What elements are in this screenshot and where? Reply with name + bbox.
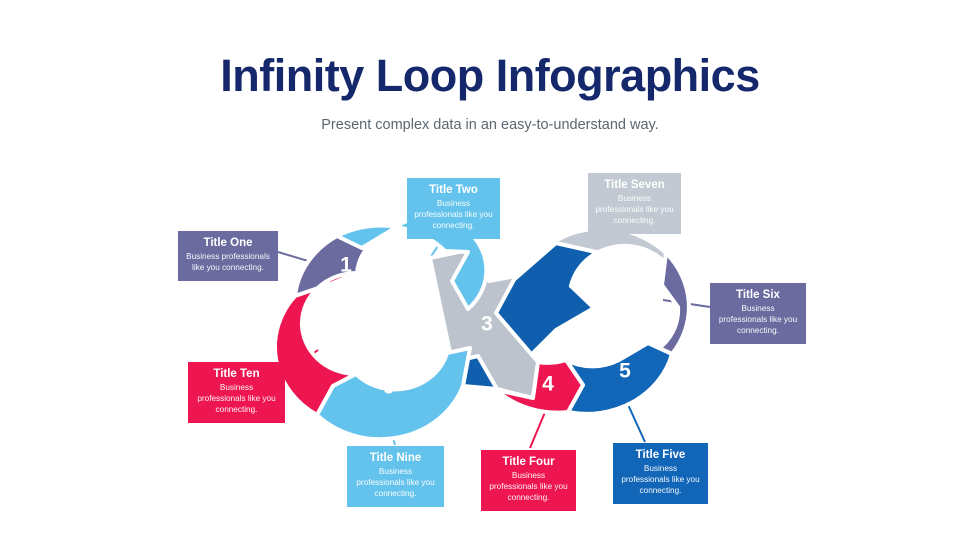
callout-two-title: Title Two bbox=[414, 183, 493, 197]
loop-segment-4-number: 4 bbox=[542, 373, 554, 396]
callout-six[interactable]: Title Six Business professionals like yo… bbox=[710, 283, 806, 344]
loop-segment-3-number: 3 bbox=[481, 313, 493, 336]
callout-one-body: Business professionals like you connecti… bbox=[185, 252, 271, 274]
callout-six-body: Business professionals like you connecti… bbox=[717, 304, 799, 336]
callout-seven-body: Business professionals like you connecti… bbox=[595, 194, 674, 226]
callout-four[interactable]: Title Four Business professionals like y… bbox=[481, 450, 576, 511]
callout-ten-title: Title Ten bbox=[195, 367, 278, 381]
callout-four-title: Title Four bbox=[488, 455, 569, 469]
loop-segment-2-number: 2 bbox=[421, 254, 433, 277]
callout-one[interactable]: Title One Business professionals like yo… bbox=[178, 231, 278, 281]
callout-nine-title: Title Nine bbox=[354, 451, 437, 465]
callout-six-title: Title Six bbox=[717, 288, 799, 302]
loop-segment-5[interactable]: 5 bbox=[566, 343, 672, 414]
callout-seven[interactable]: Title Seven Business professionals like … bbox=[588, 173, 681, 234]
loop-segment-9-number: 9 bbox=[383, 376, 395, 399]
callout-nine[interactable]: Title Nine Business professionals like y… bbox=[347, 446, 444, 507]
loop-segment-10-number: 10 bbox=[313, 329, 336, 352]
callout-ten-body: Business professionals like you connecti… bbox=[195, 383, 278, 415]
loop-segment-7-number: 7 bbox=[594, 247, 606, 270]
callout-five-title: Title Five bbox=[620, 448, 701, 462]
loop-segment-5-number: 5 bbox=[619, 360, 631, 383]
callout-two-body: Business professionals like you connecti… bbox=[414, 199, 493, 231]
callout-five-body: Business professionals like you connecti… bbox=[620, 464, 701, 496]
callout-one-title: Title One bbox=[185, 236, 271, 250]
loop-segment-9[interactable]: 9 bbox=[317, 348, 470, 439]
infographic-canvas: Infinity Loop Infographics Present compl… bbox=[0, 0, 980, 551]
callout-nine-body: Business professionals like you connecti… bbox=[354, 467, 437, 499]
callout-seven-title: Title Seven bbox=[595, 178, 674, 192]
callout-five[interactable]: Title Five Business professionals like y… bbox=[613, 443, 708, 504]
callout-ten[interactable]: Title Ten Business professionals like yo… bbox=[188, 362, 285, 423]
loop-segment-6-number: 6 bbox=[637, 283, 649, 306]
callout-two[interactable]: Title Two Business professionals like yo… bbox=[407, 178, 500, 239]
callout-four-body: Business professionals like you connecti… bbox=[488, 471, 569, 503]
